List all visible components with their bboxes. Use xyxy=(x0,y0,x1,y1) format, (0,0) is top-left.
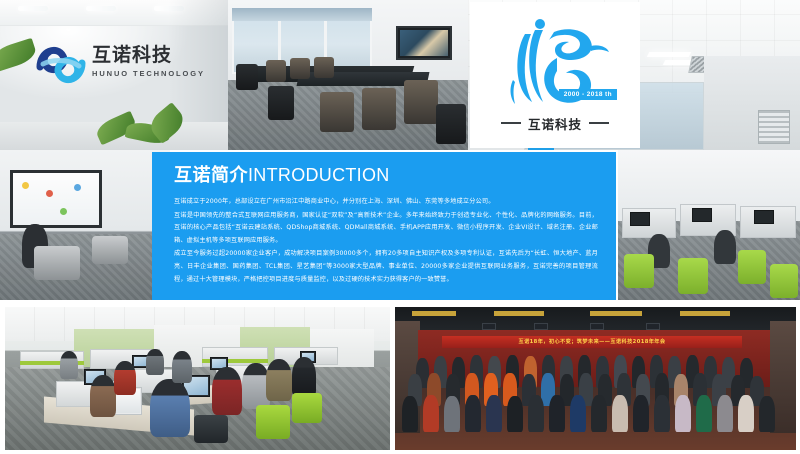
person xyxy=(507,396,523,432)
person xyxy=(114,361,136,395)
person xyxy=(549,395,565,432)
screen-dot-icon xyxy=(46,190,53,197)
introduction-panel: 互诺简介INTRODUCTION 互诺成立于2000年，总部设立在广州市沿江中路… xyxy=(152,152,616,305)
brush-stroke-18-mark-icon: 2000 - 2018 th xyxy=(499,18,611,110)
introduction-paragraph: 互诺是中国领先的整合式互联网应用服务商，国家认证“双软”及“高新技术”企业。多年… xyxy=(174,210,598,248)
person xyxy=(759,396,775,432)
person xyxy=(146,349,164,375)
lobby-logo-name-en: HUNUO TECHNOLOGY xyxy=(92,69,200,78)
green-chair xyxy=(770,264,798,298)
photo-group-annual-meeting: 互诺18年，初心不变；筑梦未来——互诺科技2018年年会 xyxy=(394,307,796,450)
person xyxy=(714,230,736,264)
person xyxy=(633,395,649,432)
screen-dot-icon xyxy=(22,182,29,189)
person xyxy=(528,395,544,432)
chair xyxy=(436,104,466,144)
monitor xyxy=(630,212,650,226)
screen-dot-icon xyxy=(60,208,67,215)
photo-office-ceiling: 2000 - 2018 th 互诺科技 xyxy=(468,0,800,150)
venue-carpet xyxy=(394,430,796,450)
plant-leaf-icon xyxy=(0,38,38,73)
infinity-swirl-mark-icon xyxy=(36,42,86,88)
person xyxy=(696,395,712,432)
person xyxy=(654,395,670,432)
green-chair xyxy=(292,393,322,423)
ceiling-light-icon xyxy=(647,52,692,57)
person xyxy=(591,395,607,432)
wall-tv xyxy=(396,26,452,60)
chair xyxy=(236,64,258,90)
green-chair xyxy=(738,250,766,284)
chair xyxy=(194,415,228,443)
photo-lobby: 互诺科技 HUNUO TECHNOLOGY xyxy=(0,0,228,150)
introduction-paragraph: 成立至今服务过超20000家企业客户，成功解决项目案例30000多个，拥有20多… xyxy=(174,248,598,286)
rule-right xyxy=(589,122,609,124)
seam-right xyxy=(796,300,800,454)
screen-dot-icon xyxy=(74,184,81,191)
stage-truss xyxy=(680,311,730,316)
chair xyxy=(320,92,354,132)
introduction-title-cn: 互诺简介 xyxy=(174,165,248,186)
chair xyxy=(362,88,396,130)
chair xyxy=(290,58,310,79)
chair xyxy=(268,86,294,120)
introduction-title: 互诺简介INTRODUCTION xyxy=(174,164,598,187)
seam-vertical xyxy=(390,300,395,454)
person xyxy=(212,367,242,415)
person xyxy=(60,351,78,379)
seam-horizontal xyxy=(0,300,800,307)
green-chair xyxy=(678,258,708,294)
introduction-body: 互诺成立于2000年，总部设立在广州市沿江中路商业中心，并分别在上海、深圳、佛山… xyxy=(174,196,598,286)
person xyxy=(150,379,190,437)
training-display-screen xyxy=(10,170,102,228)
green-chair xyxy=(624,254,654,288)
ceiling-light-icon xyxy=(86,6,116,11)
anniversary-logo-card: 2000 - 2018 th 互诺科技 xyxy=(470,2,640,148)
photo-meeting-room xyxy=(228,0,468,150)
person xyxy=(444,396,460,432)
chair xyxy=(34,246,80,280)
person xyxy=(570,395,586,432)
monitor xyxy=(754,210,774,224)
person xyxy=(172,351,192,383)
photo-open-office xyxy=(4,307,390,450)
chair xyxy=(92,236,128,264)
person xyxy=(292,357,316,397)
seam-left xyxy=(0,300,5,454)
stage-truss xyxy=(494,311,544,316)
rule-left xyxy=(501,122,521,124)
anniversary-name-cn: 互诺科技 xyxy=(528,114,582,133)
stage-truss xyxy=(412,311,456,316)
lobby-logo: 互诺科技 HUNUO TECHNOLOGY xyxy=(36,42,201,90)
person xyxy=(266,359,292,401)
crowd xyxy=(394,344,796,433)
person xyxy=(486,395,502,432)
person xyxy=(402,396,418,432)
seam-bottom xyxy=(0,450,800,454)
lobby-logo-text: 互诺科技 HUNUO TECHNOLOGY xyxy=(92,44,200,78)
monitor xyxy=(692,208,712,222)
company-profile-collage: 互诺科技 HUNUO TECHNOLOGY xyxy=(0,0,800,454)
person xyxy=(90,375,116,417)
chair xyxy=(266,60,286,82)
stage-truss xyxy=(590,311,642,316)
green-chair xyxy=(256,405,290,439)
person xyxy=(675,395,691,432)
lobby-logo-name-cn: 互诺科技 xyxy=(92,44,200,66)
person xyxy=(612,395,628,432)
person xyxy=(738,395,754,432)
anniversary-badge: 2000 - 2018 th xyxy=(559,89,617,100)
person xyxy=(423,395,439,432)
chair xyxy=(404,80,438,124)
chair xyxy=(314,57,334,78)
person xyxy=(717,395,733,432)
window-blind xyxy=(232,8,372,21)
anniversary-name: 互诺科技 xyxy=(501,114,609,133)
photo-training-room xyxy=(0,150,170,305)
person xyxy=(465,395,481,432)
introduction-title-en: INTRODUCTION xyxy=(248,165,390,185)
tv-screen xyxy=(400,30,448,56)
ceiling-light-icon xyxy=(18,6,48,11)
wall-panel xyxy=(758,110,790,144)
photo-office-workstations xyxy=(618,150,800,305)
introduction-paragraph: 互诺成立于2000年，总部设立在广州市沿江中路商业中心，并分别在上海、深圳、佛山… xyxy=(174,196,598,209)
